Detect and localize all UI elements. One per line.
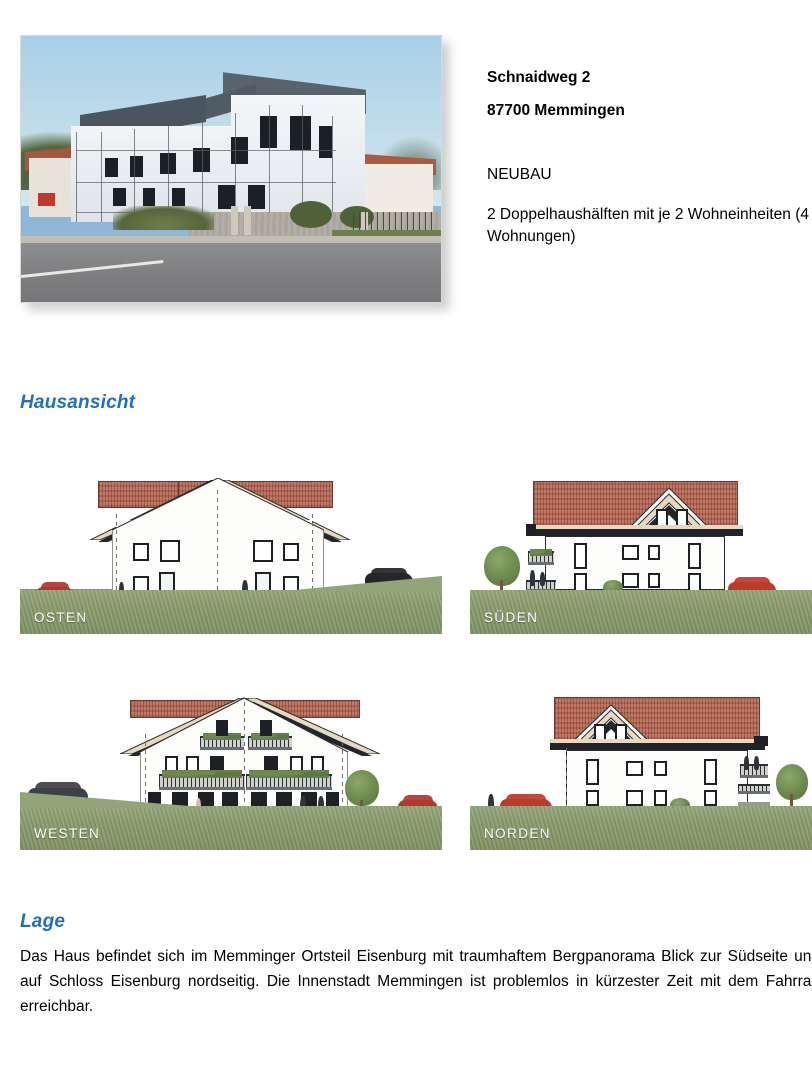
- photo-bush: [290, 201, 332, 228]
- elevation-label-osten: OSTEN: [34, 610, 88, 625]
- eave-shadow: [550, 742, 765, 750]
- property-header-text: Schnaidweg 2 87700 Memmingen NEUBAU 2 Do…: [487, 70, 812, 248]
- elevation-label-norden: NORDEN: [484, 826, 551, 841]
- balcony-wall: [526, 524, 536, 536]
- photo-window: [130, 156, 143, 177]
- elevation-westen: WESTEN: [20, 678, 442, 850]
- elevation-osten: OSTEN: [20, 462, 442, 634]
- downpipe-left: [145, 730, 146, 810]
- downpipe: [566, 744, 567, 808]
- balcony-lower: [738, 784, 770, 794]
- window: [586, 790, 599, 806]
- wall-gable-shape: [112, 478, 324, 592]
- eave-shadow: [528, 528, 743, 536]
- photo-window: [290, 116, 311, 151]
- downpipe-right: [342, 730, 343, 810]
- construction-photo: [20, 35, 442, 303]
- window: [622, 573, 639, 588]
- person-figure: [530, 570, 535, 586]
- centre-party-line: [217, 486, 218, 590]
- elevation-norden: NORDEN: [470, 678, 812, 850]
- photo-post: [231, 206, 238, 235]
- property-city: 87700 Memmingen: [487, 103, 812, 119]
- lage-paragraph: Das Haus befindet sich im Memminger Orts…: [20, 944, 812, 1019]
- property-description: 2 Doppelhaushälften mit je 2 Wohneinheit…: [487, 204, 812, 248]
- window: [704, 790, 717, 806]
- balcony-planter: [249, 770, 329, 778]
- photo-window: [319, 126, 332, 158]
- window: [654, 790, 667, 806]
- balcony-wall: [754, 736, 768, 746]
- window: [648, 545, 660, 560]
- photo-window: [105, 158, 118, 177]
- upper-door: [260, 720, 272, 736]
- window: [133, 543, 149, 561]
- photo-red-sign: [38, 193, 55, 206]
- person-figure: [744, 756, 749, 770]
- eave-fascia: [550, 739, 765, 743]
- elevation-sueden: SÜDEN: [470, 462, 812, 634]
- balcony-planter: [530, 549, 552, 556]
- person-figure: [754, 756, 759, 770]
- window: [626, 790, 643, 806]
- elevation-label-sueden: SÜDEN: [484, 610, 538, 625]
- photo-post: [244, 206, 251, 235]
- window: [626, 761, 643, 776]
- person-figure: [540, 572, 545, 586]
- window: [160, 540, 180, 562]
- centre-party-line: [244, 702, 245, 810]
- downpipe-right: [312, 514, 313, 590]
- window: [688, 543, 701, 569]
- downpipe-left: [116, 514, 117, 590]
- window: [622, 545, 639, 560]
- property-street: Schnaidweg 2: [487, 70, 812, 86]
- elevation-label-westen: WESTEN: [34, 826, 100, 841]
- window: [253, 540, 273, 562]
- photo-hedge: [113, 206, 214, 230]
- window: [704, 759, 717, 785]
- window: [586, 759, 599, 785]
- eave-fascia: [528, 525, 743, 529]
- section-heading-lage: Lage: [20, 911, 65, 933]
- property-type: NEUBAU: [487, 166, 812, 184]
- window: [648, 573, 660, 588]
- header-block: Schnaidweg 2 87700 Memmingen NEUBAU 2 Do…: [0, 0, 812, 330]
- balcony-planter: [162, 770, 242, 778]
- photo-window: [172, 188, 185, 207]
- photo-window: [113, 188, 126, 207]
- section-heading-hausansicht: Hausansicht: [20, 392, 135, 414]
- window: [654, 761, 667, 776]
- photo-road: [21, 243, 441, 302]
- upper-door: [216, 720, 228, 736]
- window: [574, 543, 587, 569]
- photo-content: [21, 36, 441, 302]
- photo-window: [143, 188, 156, 207]
- window: [283, 543, 299, 561]
